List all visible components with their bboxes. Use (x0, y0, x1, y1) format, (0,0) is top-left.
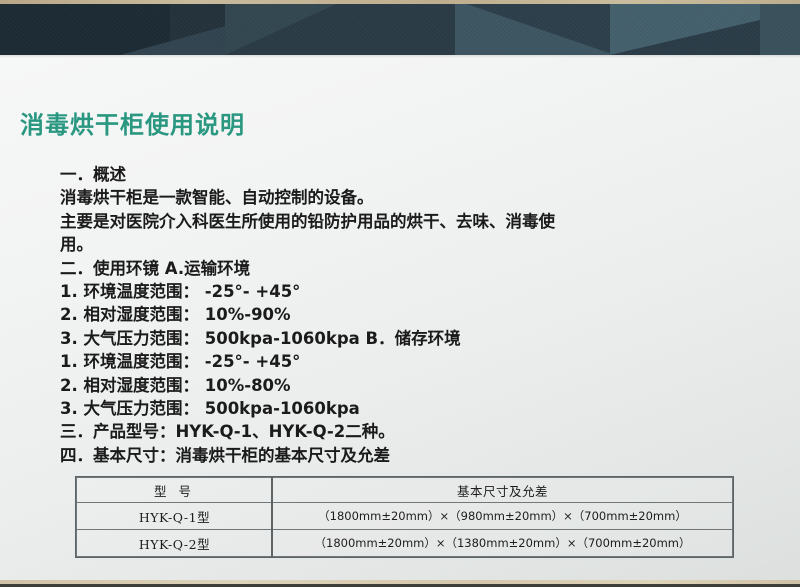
body-line: 四．基本尺寸：消毒烘干柜的基本尺寸及允差 (60, 444, 680, 467)
body-line: 主要是对医院介入科医生所使用的铅防护用品的烘干、去味、消毒使 (60, 210, 680, 233)
header-drop-shadow (0, 55, 800, 58)
column-header-model: 型 号 (77, 478, 273, 503)
table-header-row: 型 号 基本尺寸及允差 (77, 478, 733, 503)
table-row: HYK-Q-1型 （1800mm±20mm）×（980mm±20mm）×（700… (77, 503, 733, 530)
body-line: 二．使用环镜 A.运输环境 (60, 257, 680, 280)
cell-model: HYK-Q-2型 (77, 530, 273, 557)
body-line: 用。 (60, 233, 680, 256)
body-line: 2. 相对湿度范围： 10%-90% (60, 303, 680, 326)
spec-table-container: 型 号 基本尺寸及允差 HYK-Q-1型 （1800mm±20mm）×（980m… (76, 477, 733, 557)
body-line: 2. 相对湿度范围： 10%-80% (60, 374, 680, 397)
header-gold-rule (0, 0, 800, 4)
cell-dimensions: （1800mm±20mm）×（980mm±20mm）×（700mm±20mm） (273, 503, 733, 530)
cell-dimensions: （1800mm±20mm）×（1380mm±20mm）×（700mm±20mm） (273, 530, 733, 557)
header-texture-overlay (0, 0, 800, 55)
body-line: 3. 大气压力范围： 500kpa-1060kpa (60, 397, 680, 420)
body-line: 1. 环境温度范围： -25°- +45° (60, 280, 680, 303)
column-header-dimensions: 基本尺寸及允差 (273, 478, 733, 503)
body-text-block: 一．概述 消毒烘干柜是一款智能、自动控制的设备。 主要是对医院介入科医生所使用的… (60, 163, 680, 467)
page-title: 消毒烘干柜使用说明 (20, 105, 245, 140)
body-line: 一．概述 (60, 163, 680, 186)
spec-table: 型 号 基本尺寸及允差 HYK-Q-1型 （1800mm±20mm）×（980m… (76, 477, 733, 557)
cell-model: HYK-Q-1型 (77, 503, 273, 530)
header-decorative-band (0, 0, 800, 55)
body-line: 消毒烘干柜是一款智能、自动控制的设备。 (60, 186, 680, 209)
body-line: 1. 环境温度范围： -25°- +45° (60, 350, 680, 373)
table-row: HYK-Q-2型 （1800mm±20mm）×（1380mm±20mm）×（70… (77, 530, 733, 557)
body-line: 三．产品型号：HYK-Q-1、HYK-Q-2二种。 (60, 420, 680, 443)
body-line: 3. 大气压力范围： 500kpa-1060kpa B．储存环境 (60, 327, 680, 350)
